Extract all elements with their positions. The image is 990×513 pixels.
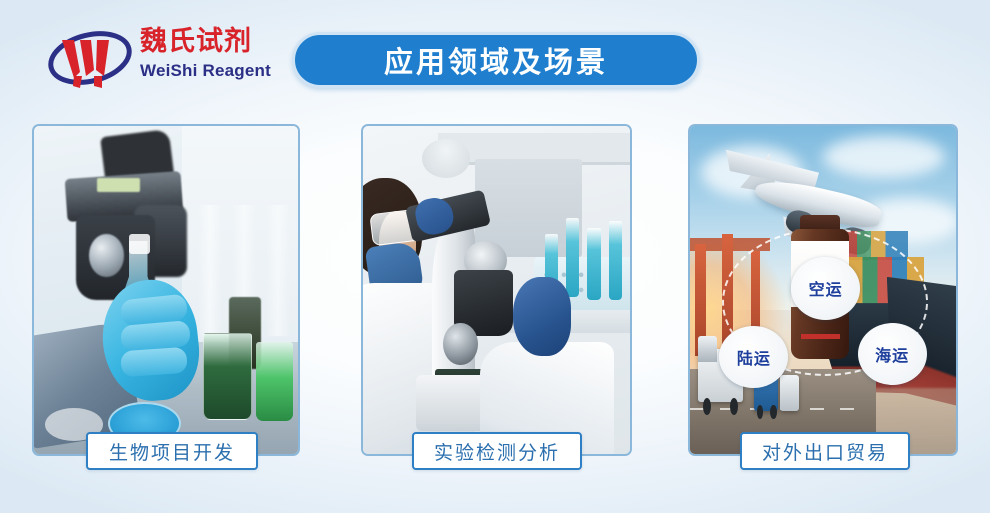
shipping-mode-sea: 海运: [858, 323, 927, 385]
photo-lab-testing-analysis: [363, 126, 630, 454]
shipping-mode-sea-label: 海运: [875, 342, 909, 366]
shipping-mode-land-label: 陆运: [737, 345, 771, 369]
weishi-w-monogram-icon: [44, 26, 136, 90]
brand-wordmark: 魏氏试剂 WeiShi Reagent: [140, 26, 300, 82]
caption-label: 实验检测分析: [434, 438, 560, 465]
card-export-trade[interactable]: 魏氏试剂 魏氏化学试剂 仅供科研 空运 陆运 海运: [688, 124, 958, 456]
page-title: 应用领域及场景: [384, 39, 608, 81]
photo-export-trade: 魏氏试剂 魏氏化学试剂 仅供科研 空运 陆运 海运: [690, 126, 956, 454]
shipping-mode-air: 空运: [791, 257, 860, 319]
caption-label: 生物项目开发: [109, 438, 235, 465]
card-bio-project-development[interactable]: [32, 124, 300, 456]
shipping-mode-air-label: 空运: [809, 276, 843, 300]
photo-bio-project-development: [34, 126, 298, 454]
caption-bio-project-development[interactable]: 生物项目开发: [86, 432, 258, 470]
brand-logo: 魏氏试剂 WeiShi Reagent: [44, 22, 294, 94]
application-cards: 魏氏试剂 魏氏化学试剂 仅供科研 空运 陆运 海运: [0, 124, 990, 464]
slide-canvas: 魏氏试剂 WeiShi Reagent 应用领域及场景: [0, 0, 990, 513]
slide-header: 魏氏试剂 WeiShi Reagent 应用领域及场景: [0, 0, 990, 115]
caption-lab-testing-analysis[interactable]: 实验检测分析: [412, 432, 582, 470]
brand-name-cn: 魏氏试剂: [140, 26, 300, 58]
card-lab-testing-analysis[interactable]: [361, 124, 632, 456]
caption-export-trade[interactable]: 对外出口贸易: [740, 432, 910, 470]
caption-label: 对外出口贸易: [762, 438, 888, 465]
page-title-banner: 应用领域及场景: [292, 32, 700, 88]
brand-name-en: WeiShi Reagent: [140, 60, 300, 82]
